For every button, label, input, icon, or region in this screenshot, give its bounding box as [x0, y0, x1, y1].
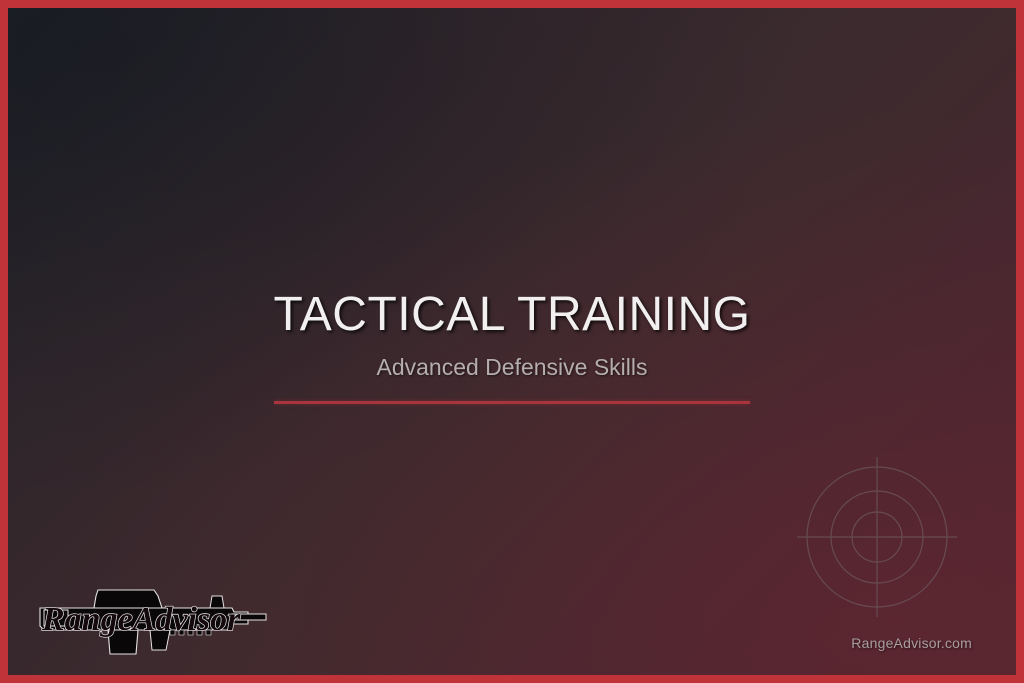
logo-wordmark: RangeAdvisor: [41, 601, 241, 638]
page-subtitle: Advanced Defensive Skills: [8, 339, 1016, 379]
brand-logo: RangeAdvisor: [34, 574, 274, 656]
presentation-slide: TACTICAL TRAINING Advanced Defensive Ski…: [0, 0, 1024, 683]
page-title: TACTICAL TRAINING: [8, 291, 1016, 339]
title-divider: [274, 401, 750, 404]
title-block: TACTICAL TRAINING Advanced Defensive Ski…: [8, 291, 1016, 404]
footer-url: RangeAdvisor.com: [851, 635, 972, 651]
